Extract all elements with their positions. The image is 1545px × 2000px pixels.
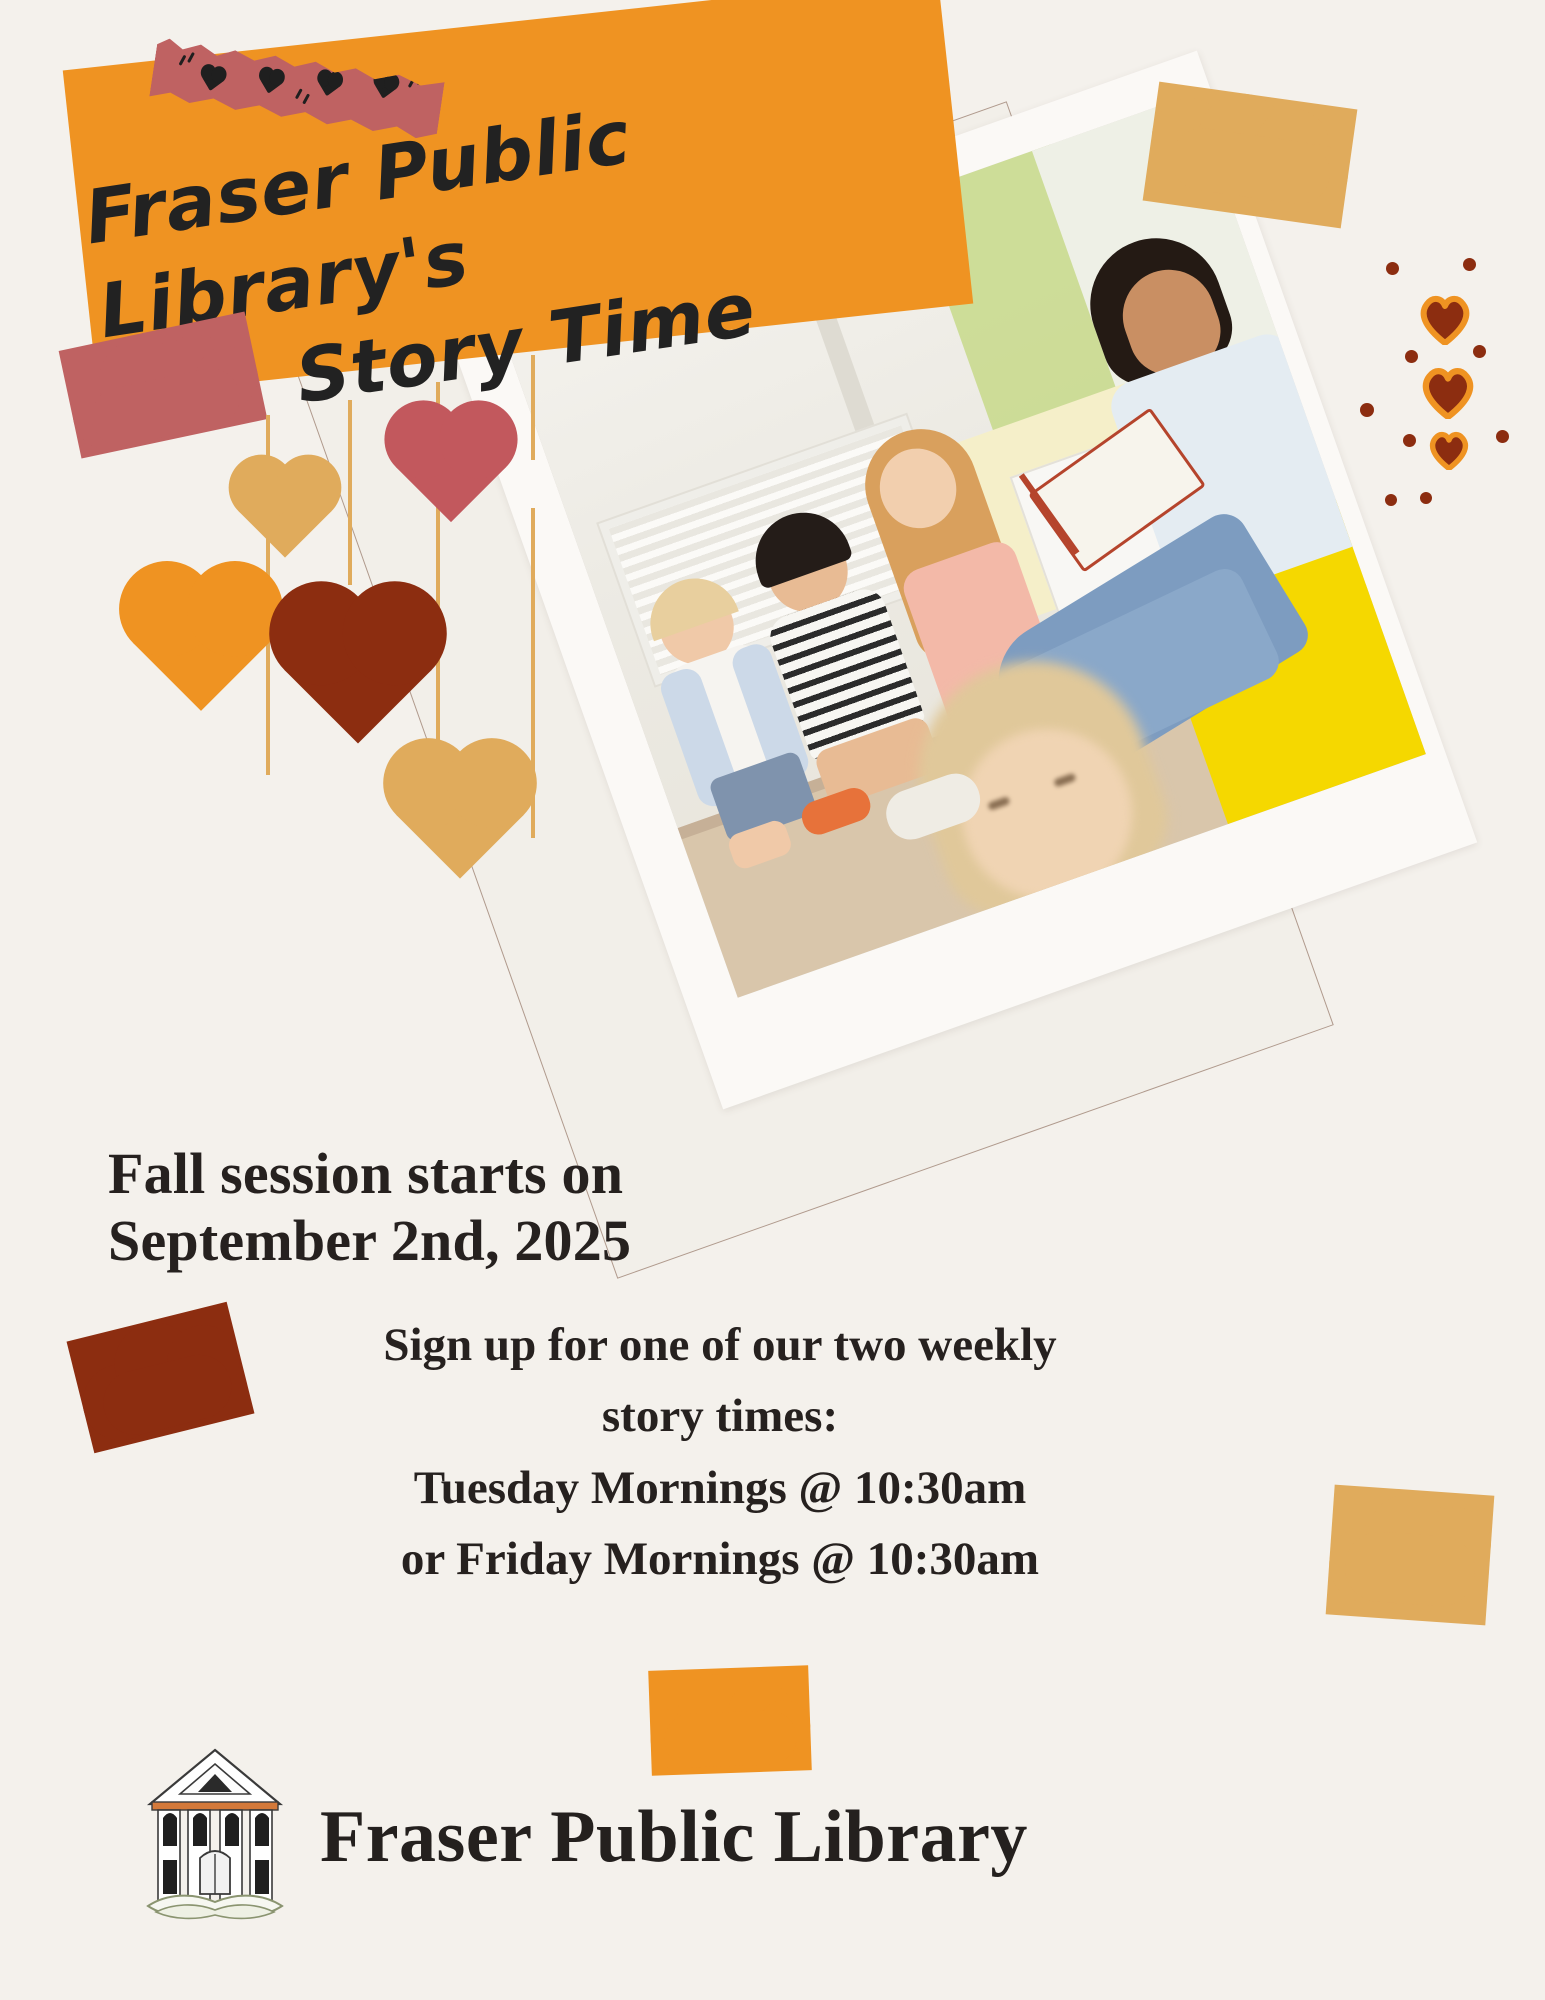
dark-red-heart-icon [284,596,431,743]
tape-heart-icon [318,73,339,96]
headline-line-1: Fall session starts on [108,1140,938,1207]
tan-heart-icon [238,464,331,557]
story-time-flyer: Fraser Public Library's Story Time [0,0,1545,2000]
details-line-4: or Friday Mornings @ 10:30am [150,1524,1290,1595]
headline-line-2: September 2nd, 2025 [108,1207,938,1274]
rose-cloud-icon [59,311,268,458]
details-line-2: story times: [150,1381,1290,1452]
tape-heart-icon [375,75,396,98]
details-block: Sign up for one of our two weekly story … [150,1310,1290,1596]
orange-heart-icon [133,575,269,711]
outlined-heart-icon [1420,365,1476,419]
decor-dot [1360,403,1374,417]
decor-dot [1473,345,1486,358]
tape-heart-icon [202,68,223,91]
organization-name: Fraser Public Library [320,1795,1028,1880]
decor-dot [1403,434,1416,447]
heart-string [348,400,352,585]
decor-dot [1405,350,1418,363]
decor-dot [1385,494,1397,506]
decor-dot [1496,430,1509,443]
tape-heart-icon [260,70,281,93]
outlined-heart-icon [1428,430,1470,470]
details-line-3: Tuesday Mornings @ 10:30am [150,1453,1290,1524]
decor-dot [1463,258,1476,271]
decor-dot [1386,262,1399,275]
outlined-heart-icon [1418,293,1472,345]
library-building-logo-icon [140,1742,290,1932]
headline: Fall session starts on September 2nd, 20… [108,1140,938,1275]
tan-cloud-icon [1326,1485,1495,1626]
details-line-1: Sign up for one of our two weekly [150,1310,1290,1381]
heart-string [531,355,535,460]
footer: Fraser Public Library [140,1742,1028,1932]
decor-dot [1420,492,1432,504]
